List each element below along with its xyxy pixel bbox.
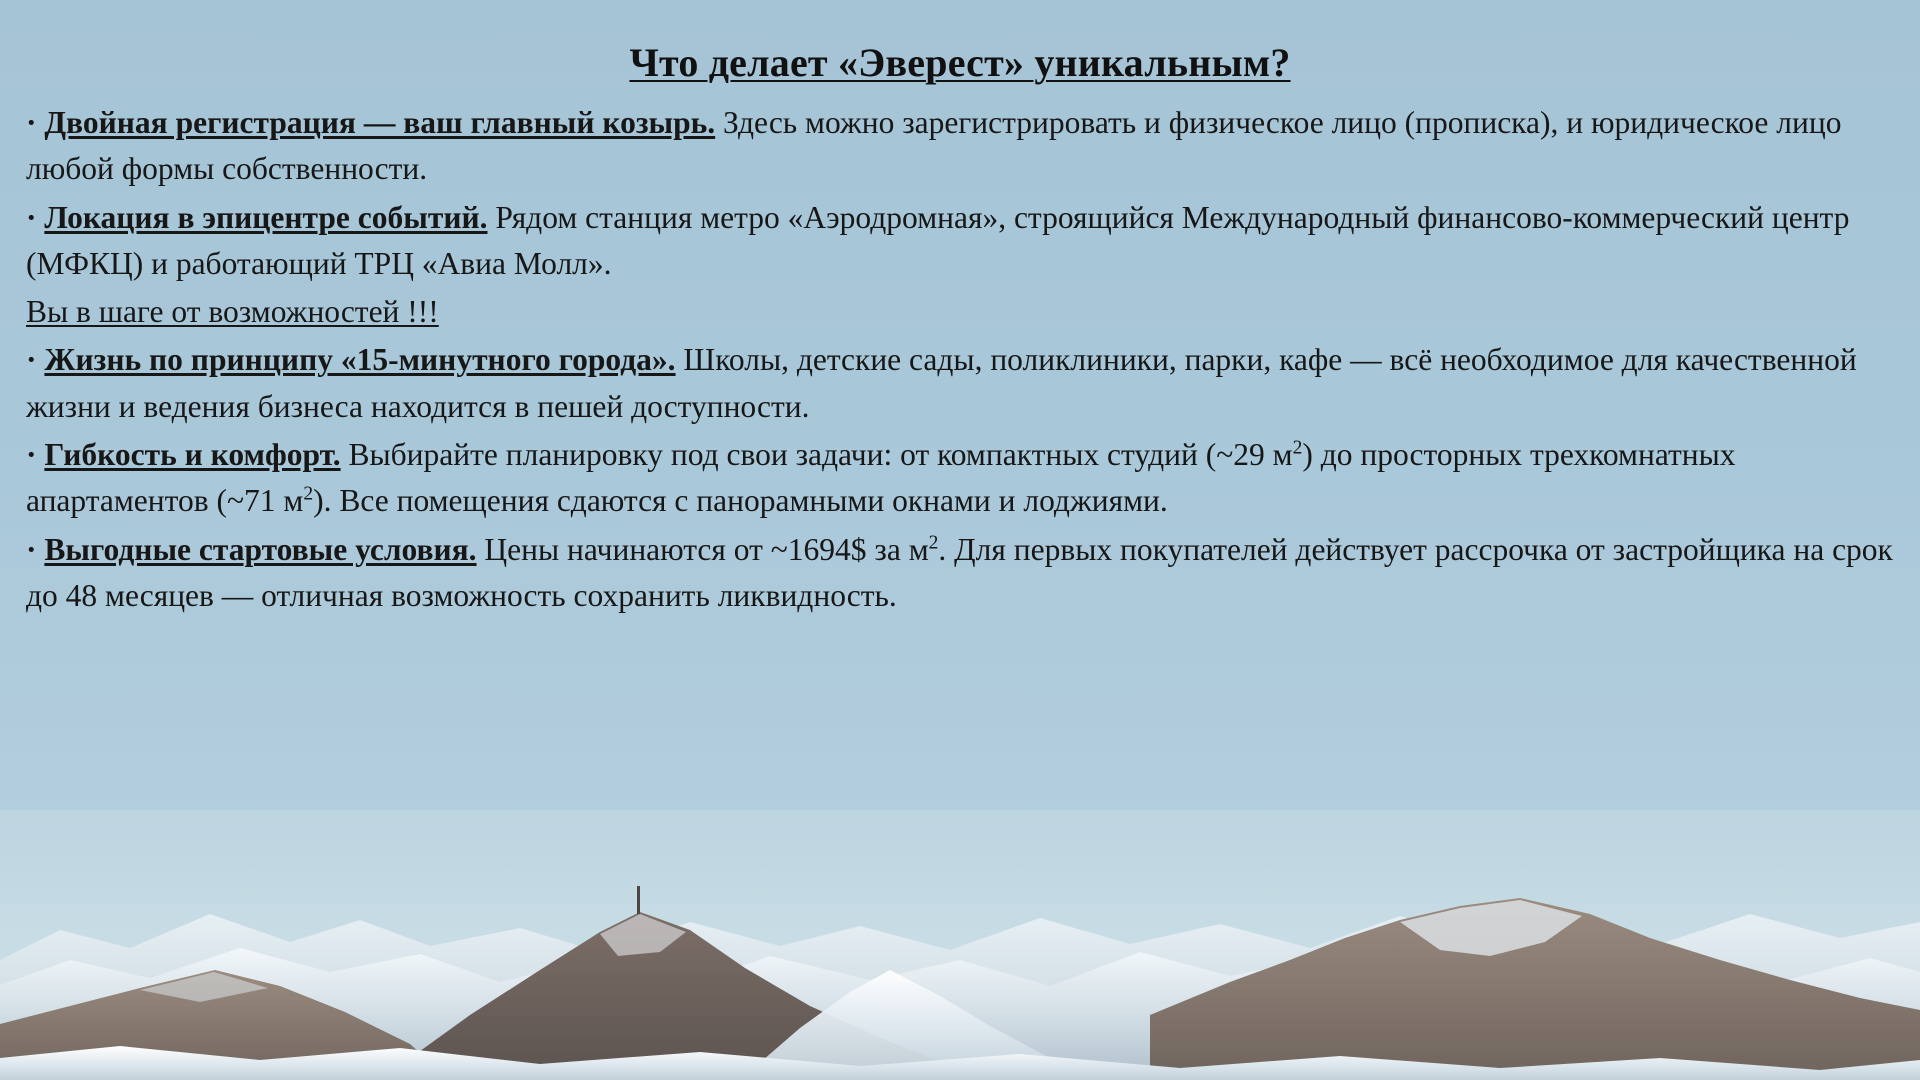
bullet-lead-dual-registration: Двойная регистрация — ваш главный козырь… xyxy=(44,105,715,140)
callout-text: Вы в шаге от возможностей !!! xyxy=(26,294,439,329)
bullet-item-15-minute-city: · Жизнь по принципу «15-минутного города… xyxy=(26,337,1894,430)
bullet-item-starting-terms: · Выгодные стартовые условия. Цены начин… xyxy=(26,527,1894,620)
slide-content: Что делает «Эверест» уникальным? · Двойн… xyxy=(0,0,1920,621)
bullet-lead-15-minute-city: Жизнь по принципу «15-минутного города». xyxy=(44,342,675,377)
bullet-item-location: · Локация в эпицентре событий. Рядом ста… xyxy=(26,195,1894,288)
callout-line: Вы в шаге от возможностей !!! xyxy=(26,289,1894,335)
bullet-lead-location: Локация в эпицентре событий. xyxy=(44,200,487,235)
bullet-glyph-icon: · xyxy=(26,342,37,377)
mountain-range-graphic xyxy=(0,810,1920,1080)
presentation-slide: Что делает «Эверест» уникальным? · Двойн… xyxy=(0,0,1920,1080)
bullet-item-dual-registration: · Двойная регистрация — ваш главный козы… xyxy=(26,100,1894,193)
bullet-glyph-icon: · xyxy=(26,200,37,235)
bullet-item-flexibility: · Гибкость и комфорт. Выбирайте планиров… xyxy=(26,432,1894,525)
mountain-photo xyxy=(0,810,1920,1080)
bullet-lead-starting-terms: Выгодные стартовые условия. xyxy=(44,532,476,567)
bullet-glyph-icon: · xyxy=(26,532,37,567)
bullet-lead-flexibility: Гибкость и комфорт. xyxy=(44,437,340,472)
bullet-glyph-icon: · xyxy=(26,105,37,140)
summit-antenna-icon xyxy=(637,886,640,914)
bullet-glyph-icon: · xyxy=(26,437,37,472)
page-title: Что делает «Эверест» уникальным? xyxy=(26,40,1894,86)
page-title-text: Что делает «Эверест» уникальным? xyxy=(629,40,1290,85)
